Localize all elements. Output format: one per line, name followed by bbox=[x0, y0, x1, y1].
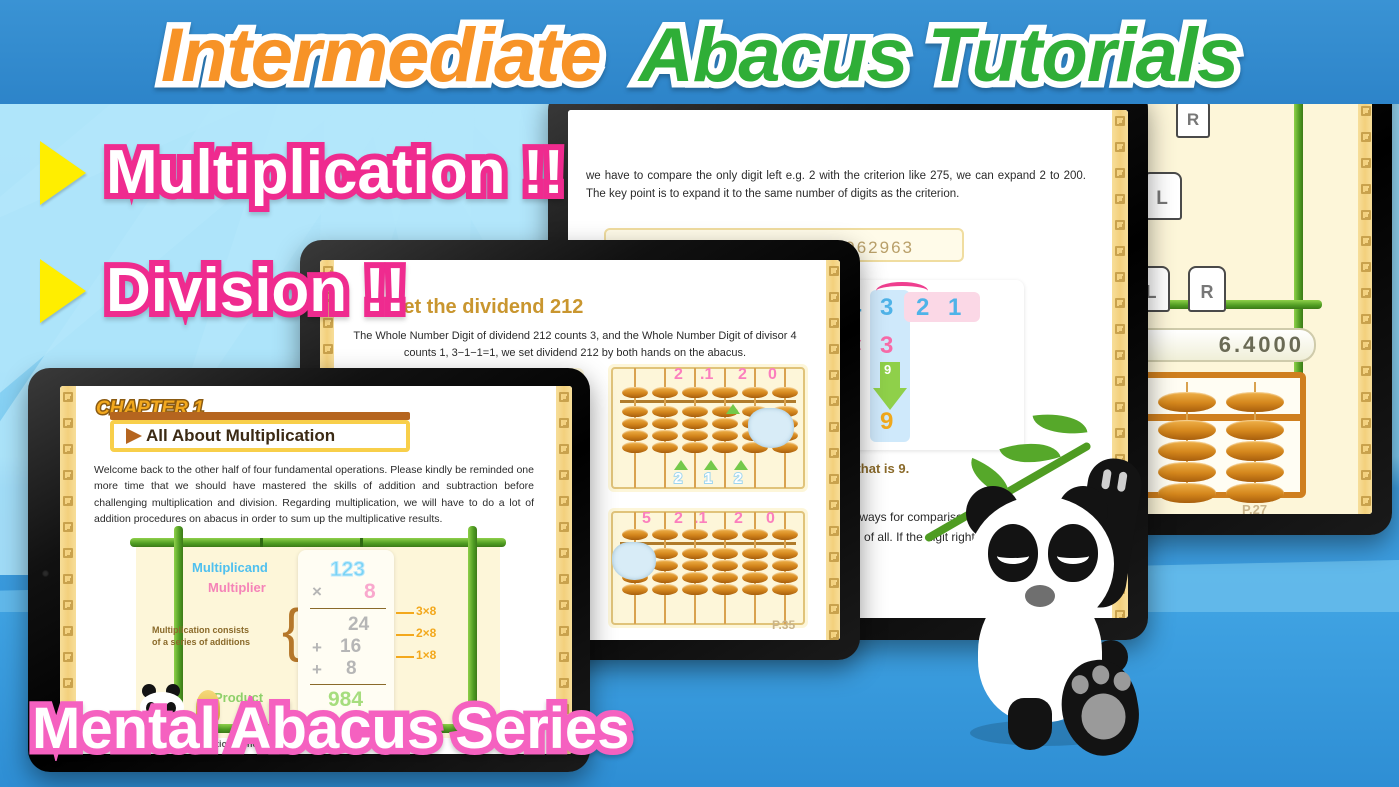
panda-toe bbox=[1070, 674, 1090, 696]
greek-key-motif-icon bbox=[829, 500, 839, 510]
abacus-bead[interactable] bbox=[742, 560, 768, 571]
greek-key-motif-icon bbox=[63, 418, 73, 428]
abacus-bead[interactable] bbox=[712, 418, 738, 429]
abacus-bead[interactable] bbox=[682, 442, 708, 453]
greek-key-motif-icon bbox=[63, 574, 73, 584]
greek-key-motif-icon bbox=[1361, 210, 1371, 220]
abacus-bead[interactable] bbox=[1226, 420, 1284, 440]
greek-key-motif-icon bbox=[559, 626, 569, 636]
panda-toe bbox=[1112, 670, 1132, 692]
abacus-bead[interactable] bbox=[652, 442, 678, 453]
greek-key-motif-icon bbox=[1361, 444, 1371, 454]
greek-key-motif-icon bbox=[1115, 350, 1125, 360]
rear-page-number: P.27 bbox=[1242, 502, 1267, 514]
greek-key-motif-icon bbox=[1115, 116, 1125, 126]
abacus-bead[interactable] bbox=[652, 572, 678, 583]
greek-key-motif-icon bbox=[829, 474, 839, 484]
abacus-bead[interactable] bbox=[622, 387, 648, 398]
poster-stage: 1. Set the Dividend dividend L R L L R 6… bbox=[0, 0, 1399, 787]
greek-key-motif-icon bbox=[63, 626, 73, 636]
leader-line-1 bbox=[396, 634, 414, 636]
front-body-text: Welcome back to the other half of four f… bbox=[94, 462, 534, 527]
abacus-bead[interactable] bbox=[652, 418, 678, 429]
abacus-bead[interactable] bbox=[652, 430, 678, 441]
abacus-bead[interactable] bbox=[712, 442, 738, 453]
greek-key-motif-icon bbox=[1361, 340, 1371, 350]
page-title: Intermediate Abacus Tutorials bbox=[0, 0, 1399, 112]
greek-key-motif-icon bbox=[1115, 272, 1125, 282]
greek-key-motif-icon bbox=[1115, 428, 1125, 438]
feature-bullets: Multiplication !! Division !! bbox=[40, 125, 564, 339]
triangle-right-icon bbox=[40, 259, 86, 323]
greek-key-motif-icon bbox=[559, 470, 569, 480]
abacus-bead[interactable] bbox=[622, 529, 648, 540]
second-bottom-digit-4: 0 bbox=[766, 510, 775, 528]
greek-key-motif-icon bbox=[559, 600, 569, 610]
partial-note-2: 1×8 bbox=[416, 648, 436, 662]
greek-key-motif-icon bbox=[1115, 220, 1125, 230]
greek-key-motif-icon bbox=[1115, 168, 1125, 178]
abacus-bead[interactable] bbox=[682, 430, 708, 441]
value-multiplicand: 123 bbox=[330, 558, 365, 582]
chapter-chevron-icon bbox=[126, 428, 142, 444]
second-marker-digit-2: 2 bbox=[734, 470, 742, 487]
second-marker-digit-1: 1 bbox=[704, 470, 712, 487]
abacus-bead[interactable] bbox=[742, 548, 768, 559]
hand-cursor-icon bbox=[612, 542, 656, 580]
divider-line bbox=[310, 608, 386, 609]
abacus-bead[interactable] bbox=[622, 406, 648, 417]
greek-key-motif-icon bbox=[829, 578, 839, 588]
second-top-digit-3: 0 bbox=[768, 366, 777, 384]
panda-toe bbox=[1091, 664, 1111, 686]
abacus-bead[interactable] bbox=[622, 418, 648, 429]
third-digit-2: 2 bbox=[916, 294, 929, 322]
greek-key-motif-icon bbox=[1361, 470, 1371, 480]
second-top-digit-1: .1 bbox=[700, 366, 713, 384]
second-top-digit-0: 2 bbox=[674, 366, 683, 384]
greek-key-motif-icon bbox=[63, 548, 73, 558]
abacus-bead[interactable] bbox=[712, 584, 738, 595]
third-multiplier-value: 3 bbox=[880, 332, 893, 360]
greek-key-motif-icon bbox=[63, 652, 73, 662]
abacus-bead[interactable] bbox=[652, 406, 678, 417]
third-digit-3: 1 bbox=[948, 294, 961, 322]
abacus-bead[interactable] bbox=[682, 584, 708, 595]
title-part-2: Abacus Tutorials bbox=[639, 13, 1238, 98]
greek-key-motif-icon bbox=[559, 522, 569, 532]
greek-key-motif-icon bbox=[63, 522, 73, 532]
greek-key-motif-icon bbox=[1361, 366, 1371, 376]
greek-key-motif-icon bbox=[829, 396, 839, 406]
chapter-accent-bar bbox=[110, 412, 410, 420]
second-top-digit-2: 2 bbox=[738, 366, 747, 384]
third-arrow-value: 9 bbox=[884, 362, 891, 377]
partial-0: 24 bbox=[348, 614, 369, 636]
triangle-right-icon bbox=[40, 141, 86, 205]
hand-cursor-icon bbox=[748, 408, 794, 448]
greek-key-motif-icon bbox=[829, 292, 839, 302]
greek-key-motif-icon bbox=[829, 266, 839, 276]
greek-key-motif-icon bbox=[829, 318, 839, 328]
second-bottom-digit-1: 2 bbox=[674, 510, 683, 528]
panda-claw-icon bbox=[1101, 469, 1112, 490]
leader-line-0 bbox=[396, 612, 414, 614]
abacus-bead[interactable] bbox=[772, 387, 798, 398]
panda-paw-pad bbox=[1078, 690, 1129, 743]
greek-key-motif-icon bbox=[1115, 402, 1125, 412]
sign-multiply: × bbox=[312, 582, 322, 602]
label-multiplier: Multiplier bbox=[208, 580, 266, 595]
partial-note-1: 2×8 bbox=[416, 626, 436, 640]
second-bottom-digit-2: .1 bbox=[694, 510, 707, 528]
greek-key-motif-icon bbox=[559, 678, 569, 688]
greek-key-motif-icon bbox=[829, 552, 839, 562]
green-arrow-head-icon bbox=[873, 388, 907, 410]
greek-key-motif-icon bbox=[1115, 324, 1125, 334]
abacus-bead[interactable] bbox=[682, 529, 708, 540]
greek-key-motif-icon bbox=[1361, 236, 1371, 246]
greek-key-motif-icon bbox=[559, 548, 569, 558]
chapter-title-bar: All About Multiplication bbox=[110, 420, 410, 452]
partial-note-0: 3×8 bbox=[416, 604, 436, 618]
greek-key-motif-icon bbox=[1115, 194, 1125, 204]
abacus-bead[interactable] bbox=[742, 529, 768, 540]
abacus-bead[interactable] bbox=[682, 406, 708, 417]
abacus-bead[interactable] bbox=[742, 572, 768, 583]
abacus-bead[interactable] bbox=[1226, 462, 1284, 482]
greek-key-motif-icon bbox=[1361, 184, 1371, 194]
diagram-card: 123 × 8 24 + 16 + 8 984 bbox=[298, 550, 394, 718]
greek-key-motif-icon bbox=[1115, 142, 1125, 152]
abacus-bead[interactable] bbox=[622, 430, 648, 441]
greek-key-motif-icon bbox=[829, 526, 839, 536]
bamboo-top bbox=[130, 538, 506, 547]
abacus-bead[interactable] bbox=[712, 430, 738, 441]
greek-key-motif-icon bbox=[559, 574, 569, 584]
greek-key-motif-icon bbox=[63, 678, 73, 688]
greek-key-motif-icon bbox=[1115, 298, 1125, 308]
abacus-bead[interactable] bbox=[742, 584, 768, 595]
title-text: Intermediate Abacus Tutorials bbox=[161, 18, 1238, 94]
divider-line bbox=[310, 684, 386, 685]
greek-key-motif-icon bbox=[1361, 418, 1371, 428]
third-body-text: we have to compare the only digit left e… bbox=[586, 168, 1086, 204]
abacus-beam bbox=[620, 400, 796, 403]
greek-key-motif-icon bbox=[829, 422, 839, 432]
bamboo-node bbox=[260, 538, 263, 547]
second-bottom-digit-0: 5 bbox=[642, 510, 651, 528]
marker-arrow-2-icon bbox=[734, 460, 748, 470]
greek-key-motif-icon bbox=[829, 448, 839, 458]
panda-eye-lash bbox=[1057, 548, 1089, 564]
greek-key-motif-icon bbox=[63, 600, 73, 610]
second-abacus-bottom[interactable]: 5 2 .1 2 0 bbox=[608, 508, 808, 628]
abacus-bead[interactable] bbox=[772, 529, 798, 540]
second-page-number: P.35 bbox=[772, 618, 795, 632]
greek-key-motif-icon bbox=[559, 652, 569, 662]
greek-key-motif-icon bbox=[559, 444, 569, 454]
abacus-bead[interactable] bbox=[1226, 483, 1284, 503]
greek-key-motif-icon bbox=[63, 470, 73, 480]
panda-nose bbox=[1025, 585, 1055, 607]
bullet-label-0: Multiplication !! bbox=[106, 142, 564, 204]
panda-leg bbox=[1008, 698, 1052, 750]
abacus-bead[interactable] bbox=[712, 548, 738, 559]
abacus-bead[interactable] bbox=[772, 548, 798, 559]
greek-key-motif-icon bbox=[1361, 132, 1371, 142]
abacus-bead[interactable] bbox=[772, 560, 798, 571]
abacus-bead[interactable] bbox=[682, 387, 708, 398]
plus-sign-1: + bbox=[312, 638, 322, 658]
partial-1: 16 bbox=[340, 636, 361, 658]
abacus-bead[interactable] bbox=[1158, 392, 1216, 412]
abacus-bead[interactable] bbox=[652, 584, 678, 595]
hand-icon-label-3: L bbox=[1142, 188, 1182, 210]
abacus-bead[interactable] bbox=[712, 387, 738, 398]
plus-sign-2: + bbox=[312, 660, 322, 680]
third-result-1: 9 bbox=[880, 408, 893, 436]
rear-readout: 6.4000 bbox=[1120, 328, 1316, 362]
greek-key-motif-icon bbox=[829, 604, 839, 614]
abacus-bead[interactable] bbox=[742, 387, 768, 398]
diagram-note: Multiplication consists of a series of a… bbox=[152, 624, 282, 648]
greek-key-motif-icon bbox=[1361, 314, 1371, 324]
chapter-title: All About Multiplication bbox=[146, 426, 335, 446]
second-marker-digit-0: 2 bbox=[674, 470, 682, 487]
panda-eye-left bbox=[988, 524, 1038, 582]
greek-key-motif-icon bbox=[559, 418, 569, 428]
greek-key-motif-icon bbox=[1115, 376, 1125, 386]
third-digit-1: 3 bbox=[880, 294, 893, 322]
abacus-bead[interactable] bbox=[1226, 441, 1284, 461]
bullet-row-1: Division !! bbox=[40, 243, 564, 339]
greek-key-motif-icon bbox=[1361, 158, 1371, 168]
abacus-bead[interactable] bbox=[682, 548, 708, 559]
greek-key-motif-icon bbox=[1115, 246, 1125, 256]
abacus-bead[interactable] bbox=[772, 584, 798, 595]
hand-icon-label-5: R bbox=[1188, 282, 1226, 303]
panda-mascot bbox=[952, 452, 1172, 762]
bullet-row-0: Multiplication !! bbox=[40, 125, 564, 221]
greek-key-motif-icon bbox=[323, 344, 333, 354]
abacus-bead[interactable] bbox=[712, 572, 738, 583]
greek-key-motif-icon bbox=[559, 392, 569, 402]
marker-arrow-1-icon bbox=[704, 460, 718, 470]
panda-claw-icon bbox=[1117, 471, 1128, 492]
abacus-bead[interactable] bbox=[652, 387, 678, 398]
bamboo-node bbox=[360, 538, 363, 547]
greek-key-motif-icon bbox=[63, 444, 73, 454]
marker-arrow-0-icon bbox=[674, 460, 688, 470]
greek-key-motif-icon bbox=[1361, 392, 1371, 402]
greek-key-motif-icon bbox=[1361, 288, 1371, 298]
greek-key-motif-icon bbox=[559, 496, 569, 506]
second-abacus-top[interactable]: 2 .1 2 0 2 1 2 bbox=[608, 364, 808, 492]
second-bottom-digit-3: 2 bbox=[734, 510, 743, 528]
abacus-bead[interactable] bbox=[712, 560, 738, 571]
greek-key-motif-icon bbox=[63, 392, 73, 402]
value-multiplier: 8 bbox=[364, 580, 376, 604]
abacus-bead[interactable] bbox=[652, 529, 678, 540]
greek-key-motif-icon bbox=[63, 496, 73, 506]
abacus-bead[interactable] bbox=[622, 442, 648, 453]
abacus-bead[interactable] bbox=[712, 529, 738, 540]
panda-eye-lash bbox=[997, 548, 1029, 564]
footer-label: Mental Abacus Series bbox=[32, 700, 629, 758]
abacus-bead[interactable] bbox=[682, 418, 708, 429]
greek-key-motif-icon bbox=[829, 370, 839, 380]
partial-2: 8 bbox=[346, 658, 357, 680]
tablet-camera-icon bbox=[42, 570, 49, 577]
panda-eye-right bbox=[1048, 524, 1098, 582]
page-border-right-icon bbox=[826, 260, 840, 640]
abacus-bead[interactable] bbox=[772, 572, 798, 583]
abacus-bead[interactable] bbox=[1158, 420, 1216, 440]
title-part-1: Intermediate bbox=[161, 13, 601, 98]
greek-key-motif-icon bbox=[1361, 262, 1371, 272]
abacus-bead[interactable] bbox=[1226, 392, 1284, 412]
abacus-bead[interactable] bbox=[682, 572, 708, 583]
hand-icon-label-2: R bbox=[1176, 110, 1210, 130]
bullet-label-1: Division !! bbox=[106, 260, 406, 322]
leader-line-2 bbox=[396, 656, 414, 658]
abacus-bead[interactable] bbox=[682, 560, 708, 571]
bead-arrow-up-icon bbox=[726, 404, 740, 414]
label-multiplicand: Multiplicand bbox=[192, 560, 268, 575]
greek-key-motif-icon bbox=[1361, 496, 1371, 506]
greek-key-motif-icon bbox=[829, 630, 839, 640]
greek-key-motif-icon bbox=[829, 344, 839, 354]
abacus-bead[interactable] bbox=[622, 584, 648, 595]
